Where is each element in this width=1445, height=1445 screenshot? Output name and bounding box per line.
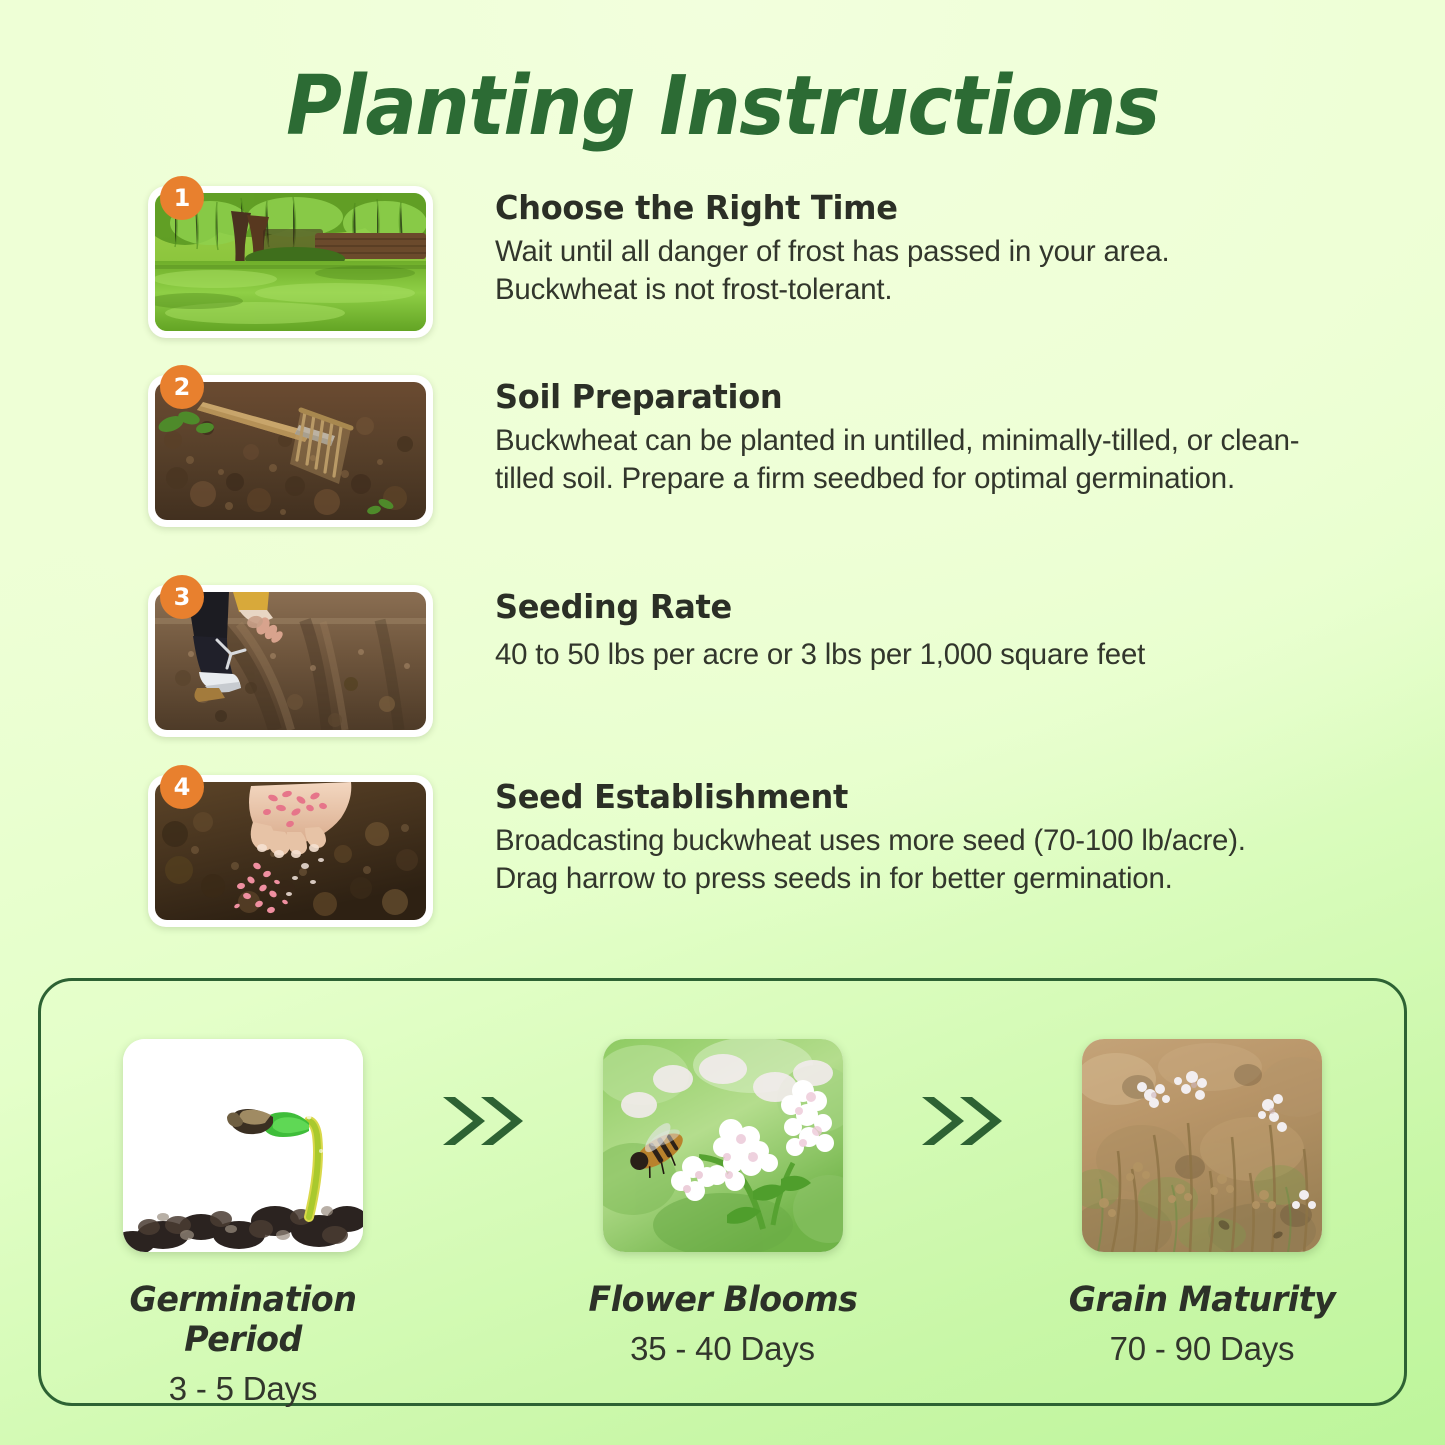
timeline-row: Germination Period 3 - 5 Days	[41, 981, 1404, 1403]
double-chevron-right-icon	[907, 1091, 1017, 1151]
timeline-stage: Flower Blooms 35 - 40 Days	[573, 1039, 873, 1368]
infographic-page: Planting Instructions 1	[0, 0, 1445, 1445]
step-item: 1	[148, 186, 1348, 338]
buckwheat-flowers-bee-photo	[603, 1039, 843, 1252]
step-thumbnail-wrap: 3	[148, 585, 433, 737]
timeline-stage-label: Germination Period	[101, 1280, 386, 1360]
step-item: 3	[148, 585, 1348, 737]
mature-buckwheat-grain-photo	[1082, 1039, 1322, 1252]
step-body: Broadcasting buckwheat uses more seed (7…	[495, 822, 1308, 898]
step-text: Seed Establishment Broadcasting buckwhea…	[495, 775, 1348, 898]
step-item: 4	[148, 775, 1348, 927]
double-chevron-right-icon	[428, 1091, 538, 1151]
step-number-badge: 3	[160, 575, 204, 619]
timeline-stage-value: 3 - 5 Days	[93, 1370, 393, 1408]
sprouting-seedling-photo	[123, 1039, 363, 1252]
step-body: 40 to 50 lbs per acre or 3 lbs per 1,000…	[495, 636, 1308, 674]
step-heading: Seeding Rate	[495, 587, 1322, 626]
step-body: Buckwheat can be planted in untilled, mi…	[495, 422, 1308, 498]
page-title: Planting Instructions	[51, 66, 1395, 148]
step-number-badge: 4	[160, 765, 204, 809]
timeline-stage-label: Grain Maturity	[1060, 1280, 1345, 1320]
step-heading: Soil Preparation	[495, 377, 1322, 416]
timeline-stage: Grain Maturity 70 - 90 Days	[1052, 1039, 1352, 1368]
step-thumbnail-wrap: 2	[148, 375, 433, 527]
step-body: Wait until all danger of frost has passe…	[495, 233, 1308, 309]
step-text: Seeding Rate 40 to 50 lbs per acre or 3 …	[495, 585, 1348, 674]
step-heading: Seed Establishment	[495, 777, 1322, 816]
step-text: Choose the Right Time Wait until all dan…	[495, 186, 1348, 309]
growth-timeline-panel: Germination Period 3 - 5 Days	[38, 978, 1407, 1406]
step-number-badge: 2	[160, 365, 204, 409]
timeline-stage: Germination Period 3 - 5 Days	[93, 1039, 393, 1408]
timeline-stage-label: Flower Blooms	[580, 1280, 865, 1320]
step-number-badge: 1	[160, 176, 204, 220]
step-text: Soil Preparation Buckwheat can be plante…	[495, 375, 1348, 498]
step-item: 2	[148, 375, 1348, 527]
timeline-stage-value: 35 - 40 Days	[573, 1330, 873, 1368]
step-heading: Choose the Right Time	[495, 188, 1322, 227]
timeline-stage-value: 70 - 90 Days	[1052, 1330, 1352, 1368]
step-thumbnail-wrap: 1	[148, 186, 433, 338]
step-thumbnail-wrap: 4	[148, 775, 433, 927]
